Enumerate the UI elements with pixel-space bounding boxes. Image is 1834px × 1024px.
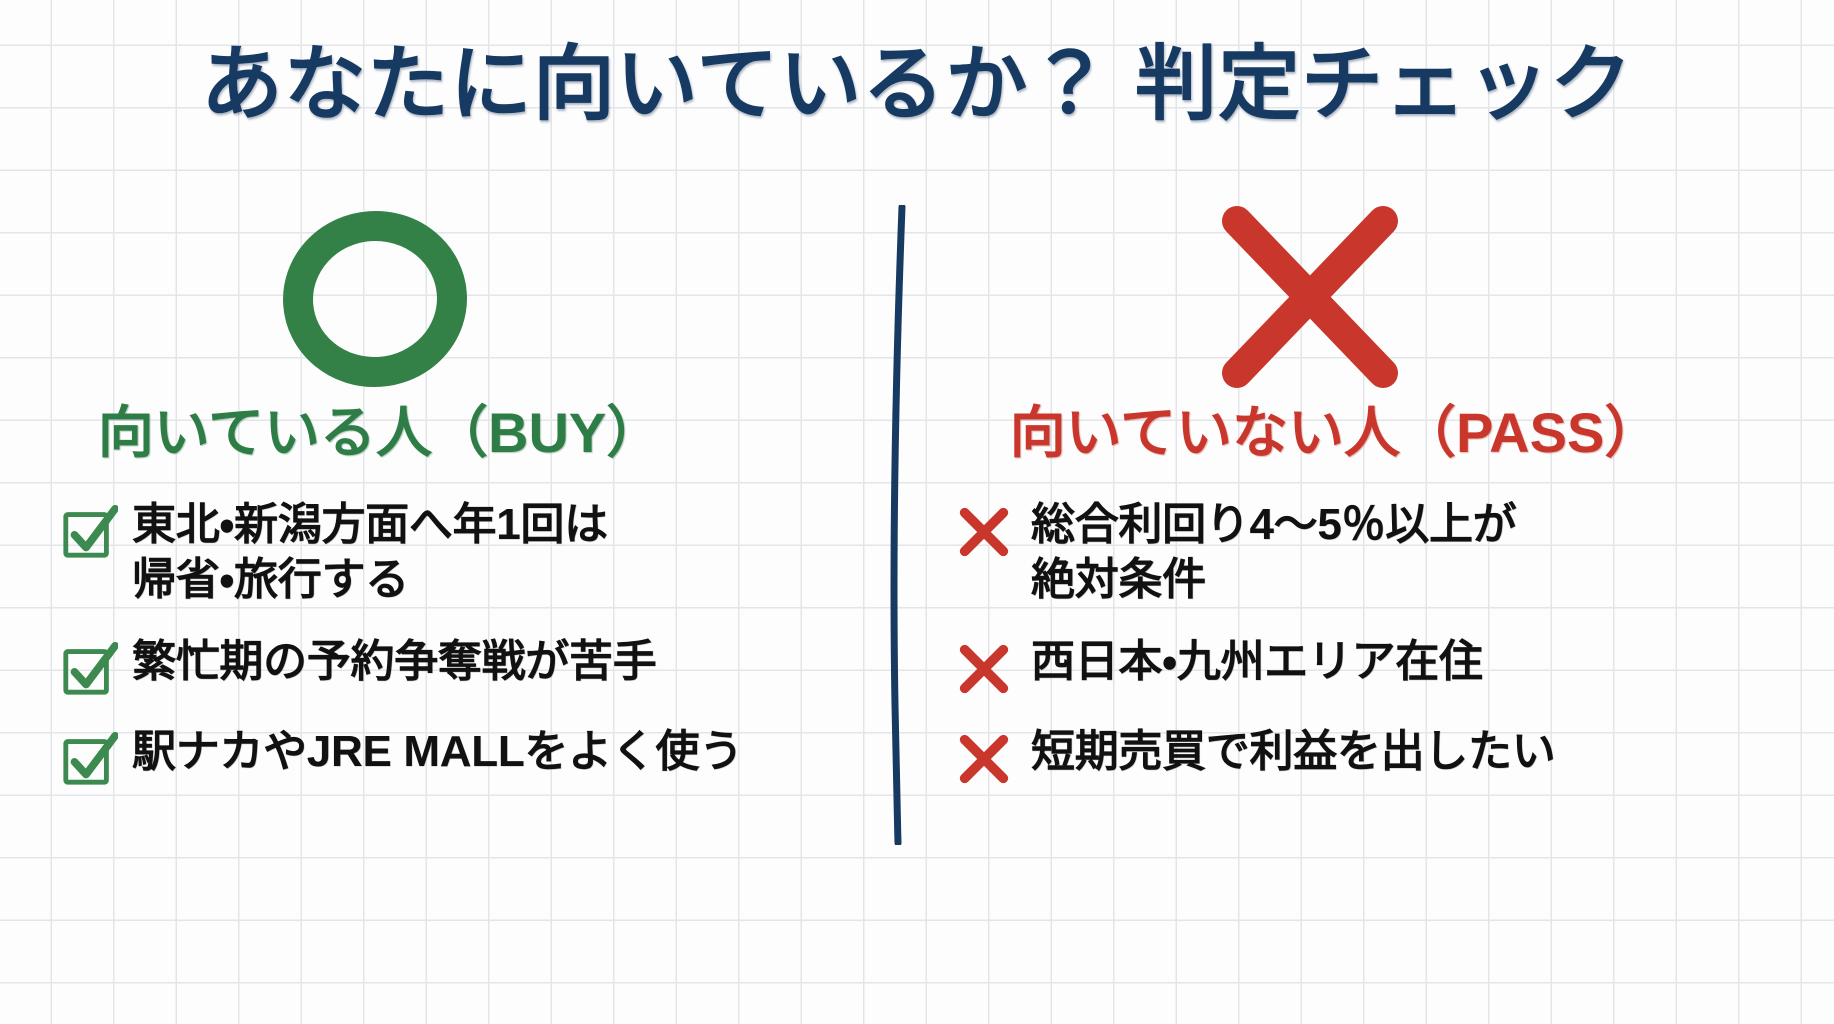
list-item-label: 短期売買で利益を出したい xyxy=(1031,724,1555,779)
list-item: 西日本・九州エリア在住 xyxy=(955,634,1795,698)
cross-mark-icon xyxy=(955,730,1013,788)
pass-item-list: 総合利回り4〜5％以上が 絶対条件 西日本・九州エリア在住 短期売買で利益を出し… xyxy=(955,497,1795,788)
list-item-label: 繁忙期の予約争奪戦が苦手 xyxy=(132,634,656,689)
buy-mark-wrapper xyxy=(60,195,860,400)
checkbox-checked-icon xyxy=(60,730,118,788)
list-item-label: 駅ナカやJRE MALLをよく使う xyxy=(132,724,743,779)
cross-mark-icon xyxy=(1215,203,1405,393)
list-item: 繁忙期の予約争奪戦が苦手 xyxy=(60,634,860,698)
checkbox-checked-icon xyxy=(60,503,118,561)
column-pass: 向いていない人（PASS） 総合利回り4〜5％以上が 絶対条件 西日本・九州エリ… xyxy=(955,195,1795,814)
pass-mark-wrapper xyxy=(955,195,1795,400)
cross-mark-icon xyxy=(955,503,1013,561)
list-item: 総合利回り4〜5％以上が 絶対条件 xyxy=(955,497,1795,608)
buy-column-header: 向いている人（BUY） xyxy=(60,404,860,463)
list-item-label: 西日本・九州エリア在住 xyxy=(1031,634,1483,689)
list-item: 東北・新潟方面へ年1回は 帰省・旅行する xyxy=(60,497,860,608)
list-item: 短期売買で利益を出したい xyxy=(955,724,1795,788)
slide-canvas: あなたに向いているか？ 判定チェック 向いている人（BUY） 東北・新潟方面へ年… xyxy=(0,0,1834,1024)
checkbox-checked-icon xyxy=(60,640,118,698)
list-item-label: 東北・新潟方面へ年1回は 帰省・旅行する xyxy=(132,497,608,608)
cross-mark-icon xyxy=(955,640,1013,698)
buy-item-list: 東北・新潟方面へ年1回は 帰省・旅行する 繁忙期の予約争奪戦が苦手 駅ナカやJR… xyxy=(60,497,860,788)
list-item-label: 総合利回り4〜5％以上が 絶対条件 xyxy=(1031,497,1516,608)
page-title: あなたに向いているか？ 判定チェック xyxy=(0,44,1834,126)
list-item: 駅ナカやJRE MALLをよく使う xyxy=(60,724,860,788)
pass-column-header: 向いていない人（PASS） xyxy=(955,404,1795,463)
circle-mark-icon xyxy=(277,200,473,396)
column-buy: 向いている人（BUY） 東北・新潟方面へ年1回は 帰省・旅行する 繁忙期の予約争… xyxy=(60,195,860,814)
center-divider xyxy=(880,205,920,845)
